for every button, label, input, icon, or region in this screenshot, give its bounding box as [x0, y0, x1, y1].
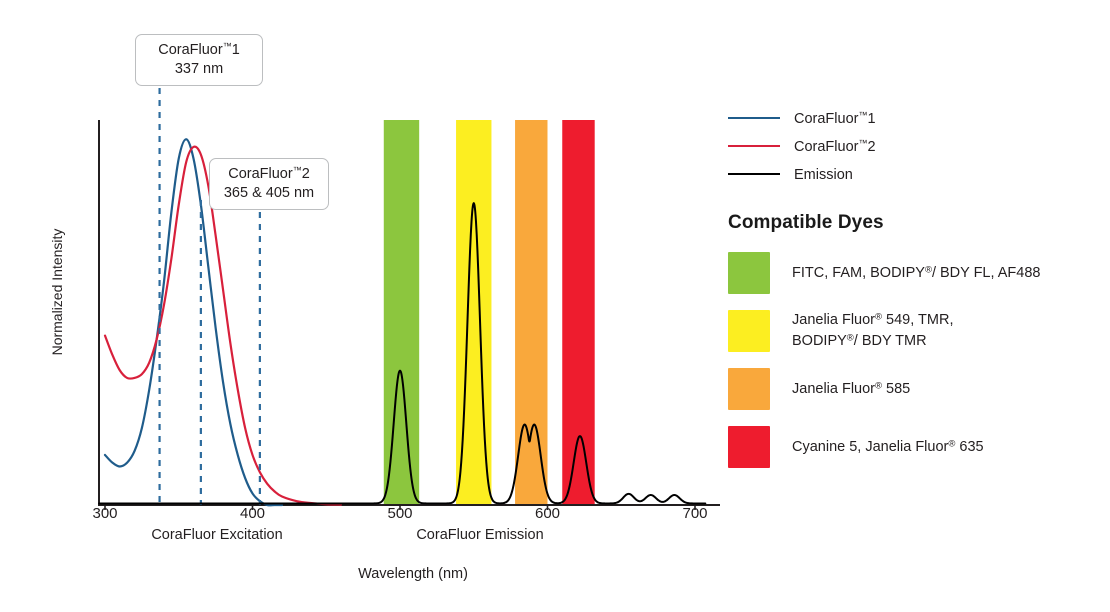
callout-corafluor1: CoraFluor™1 337 nm [135, 34, 263, 86]
dye-line1-text: Janelia Fluor [792, 381, 875, 397]
legend-line-swatch [728, 145, 780, 147]
callout2-tm: ™ [293, 165, 302, 175]
dye-line1-text: FITC, FAM, BODIPY [792, 265, 925, 281]
compatible-dyes-title: Compatible Dyes [728, 212, 1110, 234]
legend-series-list: CoraFluor™1CoraFluor™2Emission [728, 104, 1110, 188]
legend-series-label: CoraFluor™2 [794, 138, 876, 155]
dye-color-swatch [728, 426, 770, 468]
callout2-suffix: 2 [302, 166, 310, 182]
dye-label: Cyanine 5, Janelia Fluor® 635 [792, 437, 984, 458]
dye-line1-tail: 549, TMR, [882, 312, 953, 328]
dye-label: Janelia Fluor® 585 [792, 379, 910, 400]
registered-icon: ® [875, 380, 882, 391]
dye-label-line2: BODIPY®/ BDY TMR [792, 331, 953, 352]
dye-color-swatch [728, 368, 770, 410]
callout1-line2: 337 nm [146, 60, 252, 79]
legend-series-row: CoraFluor™1 [728, 104, 1110, 132]
legend-label-suffix: 2 [867, 138, 875, 154]
x-tick-label-700: 700 [665, 505, 725, 522]
dye-label-line1: Janelia Fluor® 585 [792, 379, 910, 400]
callout2-line1: CoraFluor [228, 166, 292, 182]
legend-label-main: Emission [794, 166, 853, 182]
x-axis-label: Wavelength (nm) [288, 566, 538, 582]
legend-series-label: CoraFluor™1 [794, 110, 876, 127]
legend-line-swatch [728, 173, 780, 175]
compatible-dyes-list: FITC, FAM, BODIPY®/ BDY FL, AF488Janelia… [728, 250, 1110, 470]
registered-icon: ® [925, 264, 932, 275]
dye-line1-tail: 635 [955, 439, 983, 455]
emission-caption: CoraFluor Emission [395, 527, 565, 543]
dye-line2-text: BODIPY [792, 333, 847, 349]
y-axis-label: Normalized Intensity [49, 202, 65, 382]
legend-series-row: Emission [728, 160, 1110, 188]
dye-color-swatch [728, 252, 770, 294]
x-tick-label-600: 600 [518, 505, 578, 522]
excitation-caption: CoraFluor Excitation [132, 527, 302, 543]
dye-row: FITC, FAM, BODIPY®/ BDY FL, AF488 [728, 250, 1110, 296]
callout1-suffix: 1 [232, 42, 240, 58]
callout2-line2: 365 & 405 nm [220, 184, 318, 203]
legend-line-swatch [728, 117, 780, 119]
dye-line2-tail: / BDY TMR [854, 333, 927, 349]
registered-icon: ® [847, 332, 854, 343]
legend-series-row: CoraFluor™2 [728, 132, 1110, 160]
callout1-tm: ™ [223, 41, 232, 51]
dye-line1-text: Janelia Fluor [792, 312, 875, 328]
x-tick-label-300: 300 [75, 505, 135, 522]
callout1-line1: CoraFluor [158, 42, 222, 58]
dye-label: Janelia Fluor® 549, TMR,BODIPY®/ BDY TMR [792, 310, 953, 351]
dye-line1-tail: / BDY FL, AF488 [932, 265, 1041, 281]
dye-line1-text: Cyanine 5, Janelia Fluor [792, 439, 948, 455]
dye-label: FITC, FAM, BODIPY®/ BDY FL, AF488 [792, 263, 1040, 284]
dye-label-line1: Cyanine 5, Janelia Fluor® 635 [792, 437, 984, 458]
dye-color-swatch [728, 310, 770, 352]
x-tick-label-400: 400 [223, 505, 283, 522]
legend-label-main: CoraFluor [794, 110, 858, 126]
legend-label-suffix: 1 [867, 110, 875, 126]
dye-row: Janelia Fluor® 585 [728, 366, 1110, 412]
legend-series-label: Emission [794, 166, 853, 183]
registered-icon: ® [875, 312, 882, 323]
dye-line1-tail: 585 [882, 381, 910, 397]
dye-row: Janelia Fluor® 549, TMR,BODIPY®/ BDY TMR [728, 308, 1110, 354]
figure-root: CoraFluor™1 337 nm CoraFluor™2 365 & 405… [0, 0, 1110, 612]
legend-panel: CoraFluor™1CoraFluor™2Emission Compatibl… [728, 104, 1110, 482]
callout-corafluor2: CoraFluor™2 365 & 405 nm [209, 158, 329, 210]
dye-label-line1: Janelia Fluor® 549, TMR, [792, 310, 953, 331]
red-band [562, 120, 594, 505]
green-band [384, 120, 419, 505]
legend-label-main: CoraFluor [794, 138, 858, 154]
dye-label-line1: FITC, FAM, BODIPY®/ BDY FL, AF488 [792, 263, 1040, 284]
x-tick-label-500: 500 [370, 505, 430, 522]
dye-row: Cyanine 5, Janelia Fluor® 635 [728, 424, 1110, 470]
